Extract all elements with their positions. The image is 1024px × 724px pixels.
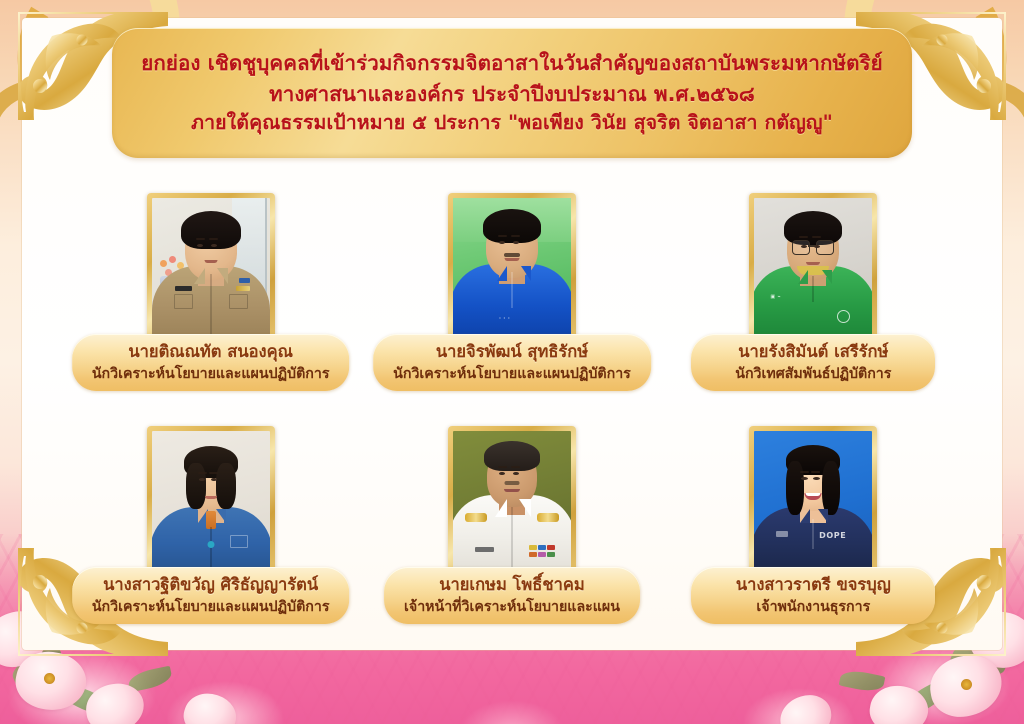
portrait-photo: · · · bbox=[453, 198, 571, 340]
name-badge: นายติณณทัต สนองคุณ นักวิเคราะห์นโยบายและ… bbox=[72, 334, 350, 391]
person-name: นางสาวราตรี ขจรบุญ bbox=[711, 574, 915, 596]
shirt-logo: DOPE bbox=[819, 531, 846, 540]
person-name: นายจิรพัฒน์ สุทธิรักษ์ bbox=[393, 341, 631, 363]
portrait-photo bbox=[152, 431, 270, 573]
person-card[interactable]: นายเกษม โพธิ์ชาคม เจ้าหน้าที่วิเคราะห์นโ… bbox=[367, 413, 657, 646]
person-name: นายเกษม โพธิ์ชาคม bbox=[404, 574, 620, 596]
epaulette-left bbox=[465, 513, 487, 522]
person-role: นักวิเคราะห์นโยบายและแผนปฏิบัติการ bbox=[92, 365, 330, 383]
person-card[interactable]: ▣ ⌁ นายรังสิมันต์ เสรีรักษ์ นักวิเทศสัมพ… bbox=[668, 180, 958, 413]
person-role: นักวิเคราะห์นโยบายและแผนปฏิบัติการ bbox=[393, 365, 631, 383]
photo-frame bbox=[147, 193, 275, 345]
photo-frame: · · · bbox=[448, 193, 576, 345]
title-line-2: ทางศาสนาและองค์กร ประจำปีงบประมาณ พ.ศ.๒๕… bbox=[269, 81, 755, 107]
photo-frame bbox=[147, 426, 275, 578]
portrait-photo: DOPE bbox=[754, 431, 872, 573]
person-role: เจ้าหน้าที่วิเคราะห์นโยบายและแผน bbox=[404, 598, 620, 616]
poster-canvas: ยกย่อง เชิดชูบุคคลที่เข้าร่วมกิจกรรมจิตอ… bbox=[0, 0, 1024, 724]
title-banner: ยกย่อง เชิดชูบุคคลที่เข้าร่วมกิจกรรมจิตอ… bbox=[112, 28, 912, 158]
person-name: นายรังสิมันต์ เสรีรักษ์ bbox=[711, 341, 915, 363]
photo-frame bbox=[448, 426, 576, 578]
person-card[interactable]: · · · นายจิรพัฒน์ สุทธิรักษ์ นักวิเคราะห… bbox=[367, 180, 657, 413]
person-card[interactable]: นางสาวฐิติขวัญ ศิริธัญญารัตน์ นักวิเคราะ… bbox=[66, 413, 356, 646]
person-role: นักวิเทศสัมพันธ์ปฏิบัติการ bbox=[711, 365, 915, 383]
person-card[interactable]: นายติณณทัต สนองคุณ นักวิเคราะห์นโยบายและ… bbox=[66, 180, 356, 413]
flower-center bbox=[961, 679, 972, 690]
people-grid: นายติณณทัต สนองคุณ นักวิเคราะห์นโยบายและ… bbox=[60, 180, 964, 646]
title-line-3: ภายใต้คุณธรรมเป้าหมาย ๕ ประการ "พอเพียง … bbox=[191, 111, 833, 136]
name-badge: นางสาวราตรี ขจรบุญ เจ้าพนักงานธุรการ bbox=[691, 567, 935, 624]
name-badge: นายเกษม โพธิ์ชาคม เจ้าหน้าที่วิเคราะห์นโ… bbox=[384, 567, 640, 624]
name-badge: นายจิรพัฒน์ สุทธิรักษ์ นักวิเคราะห์นโยบา… bbox=[373, 334, 651, 391]
name-badge: นางสาวฐิติขวัญ ศิริธัญญารัตน์ นักวิเคราะ… bbox=[72, 567, 350, 624]
person-name: นายติณณทัต สนองคุณ bbox=[92, 341, 330, 363]
portrait-photo bbox=[152, 198, 270, 340]
portrait-photo bbox=[453, 431, 571, 573]
title-line-1: ยกย่อง เชิดชูบุคคลที่เข้าร่วมกิจกรรมจิตอ… bbox=[141, 50, 882, 76]
photo-frame: ▣ ⌁ bbox=[749, 193, 877, 345]
eyeglasses-icon bbox=[792, 240, 834, 253]
portrait-photo: ▣ ⌁ bbox=[754, 198, 872, 340]
person-name: นางสาวฐิติขวัญ ศิริธัญญารัตน์ bbox=[92, 574, 330, 596]
person-role: เจ้าพนักงานธุรการ bbox=[711, 598, 915, 616]
epaulette-right bbox=[537, 513, 559, 522]
name-badge: นายรังสิมันต์ เสรีรักษ์ นักวิเทศสัมพันธ์… bbox=[691, 334, 935, 391]
person-card[interactable]: DOPE นางสาวราตรี ขจรบุญ เจ้าพนักงานธุรกา… bbox=[668, 413, 958, 646]
photo-frame: DOPE bbox=[749, 426, 877, 578]
flower-center bbox=[44, 673, 55, 684]
person-role: นักวิเคราะห์นโยบายและแผนปฏิบัติการ bbox=[92, 598, 330, 616]
